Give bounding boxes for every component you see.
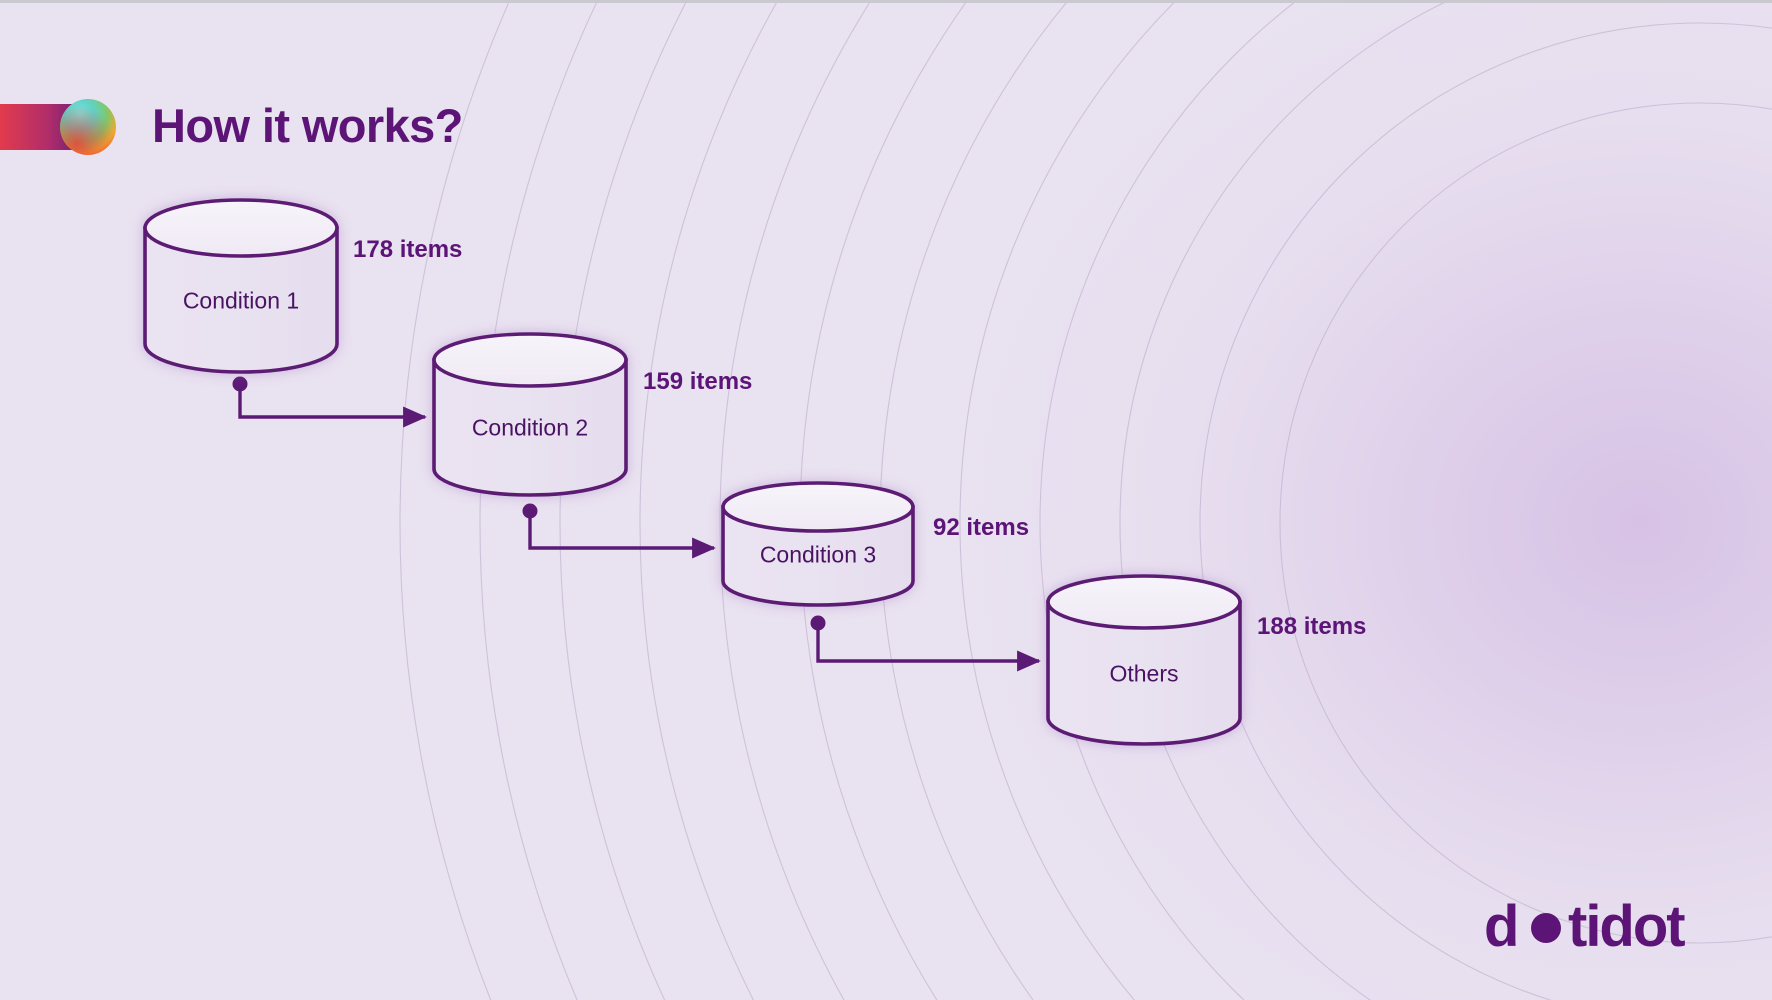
edge-origin-dot — [523, 504, 538, 519]
slide-canvas: How it works? — [0, 0, 1772, 1000]
edge-condition3-others — [818, 623, 1039, 661]
cylinder-top — [145, 200, 337, 256]
node-condition-2[interactable] — [434, 334, 626, 495]
logo-dot-icon — [1531, 913, 1561, 943]
cylinder-top — [434, 334, 626, 386]
count-label-condition-1: 178 items — [353, 236, 462, 264]
connector-group — [240, 384, 1039, 661]
svg-text:tidot: tidot — [1568, 896, 1685, 958]
svg-text:d: d — [1484, 896, 1517, 958]
cylinder-top — [1048, 576, 1240, 628]
dotidot-logo-wordmark: d tidot — [1484, 896, 1730, 958]
count-label-condition-3: 92 items — [933, 514, 1029, 542]
edge-origin-dot — [233, 377, 248, 392]
edge-condition1-condition2 — [240, 384, 425, 417]
diagram-svg — [0, 3, 1772, 1000]
node-condition-3[interactable] — [723, 483, 913, 605]
edge-condition2-condition3 — [530, 511, 714, 548]
node-condition-1[interactable] — [145, 200, 337, 372]
flow-diagram: Condition 1 Condition 2 Condition 3 Othe… — [0, 3, 1772, 1000]
cylinder-top — [723, 483, 913, 531]
count-label-condition-2: 159 items — [643, 368, 752, 396]
node-others[interactable] — [1048, 576, 1240, 744]
count-label-others: 188 items — [1257, 613, 1366, 641]
dotidot-logo: d tidot — [1484, 896, 1730, 958]
edge-origin-dot — [811, 616, 826, 631]
